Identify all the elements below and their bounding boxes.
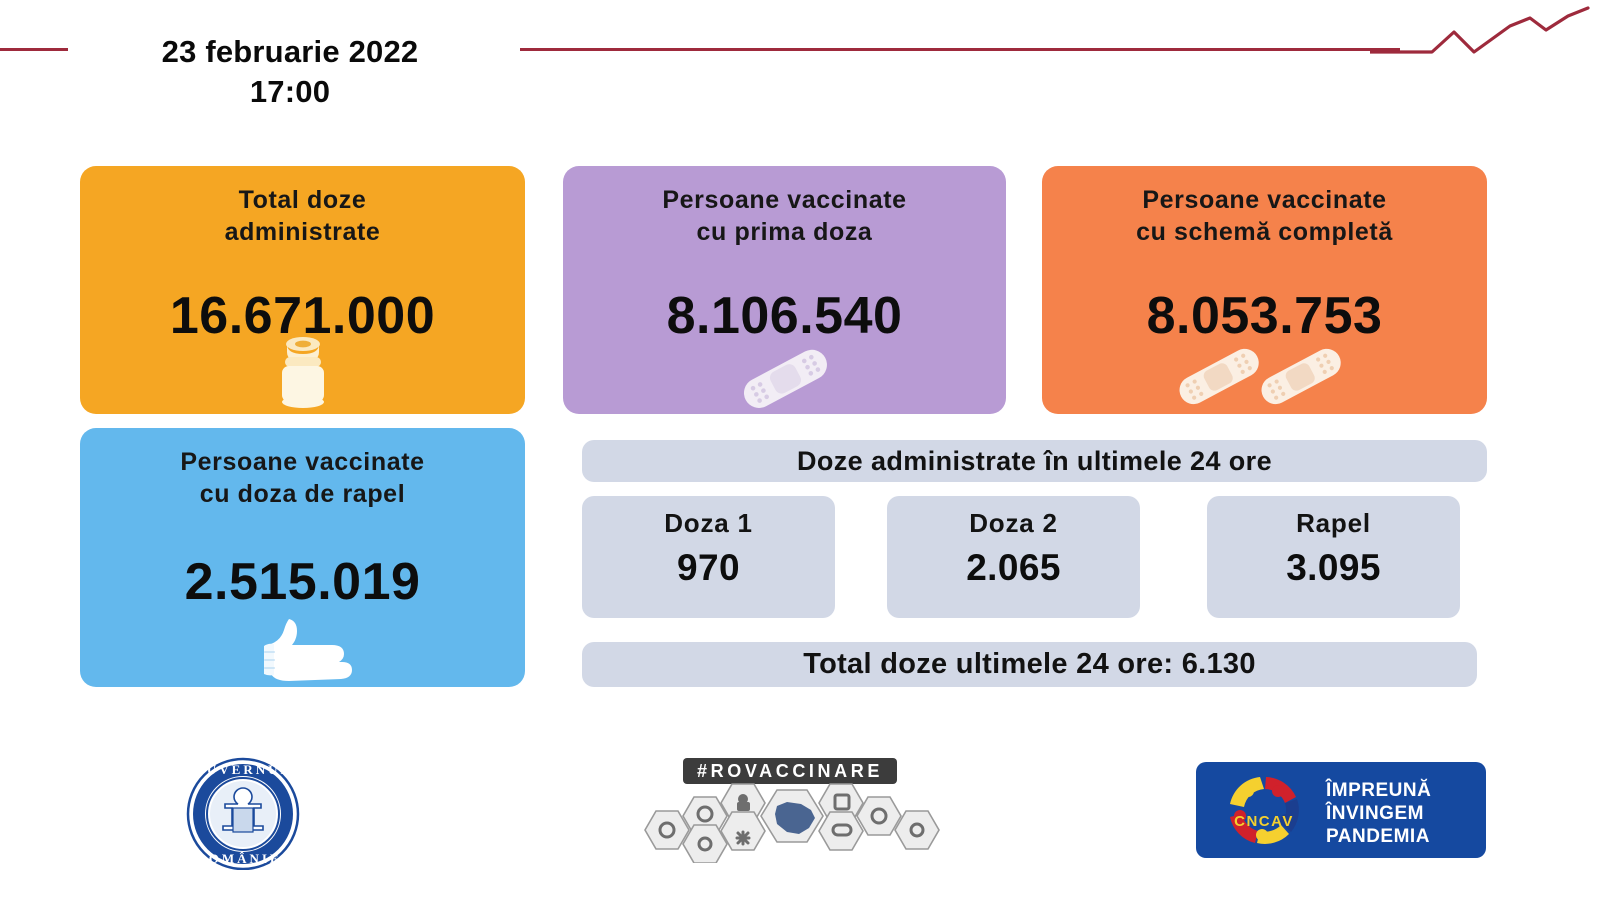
dose-box-doza-1-label: Doza 1 <box>582 508 835 539</box>
card-first-dose-value: 8.106.540 <box>577 286 992 346</box>
thumbs-up-icon <box>80 612 525 688</box>
header-rule-left <box>0 48 68 51</box>
svg-text:GUVERNUL: GUVERNUL <box>194 762 292 777</box>
dose-box-rapel-value: 3.095 <box>1207 547 1460 589</box>
cncav-logo-icon: CNCAV ÎMPREUNĂ ÎNVINGEM PANDEMIA <box>1196 762 1486 858</box>
svg-text:CNCAV: CNCAV <box>1234 813 1294 830</box>
card-first-dose-title: Persoane vaccinate cu prima doza <box>577 184 992 248</box>
dose-box-doza-1-value: 970 <box>582 547 835 589</box>
rovaccinare-hex-logo-icon: #ROVACCINARE <box>625 758 955 863</box>
cncav-line-2: ÎNVINGEM <box>1325 802 1424 824</box>
header: 23 februarie 2022 17:00 <box>0 0 1600 140</box>
cncav-line-3: PANDEMIA <box>1326 826 1430 847</box>
dose-box-doza-2-value: 2.065 <box>887 547 1140 589</box>
vaccine-vial-icon <box>80 332 525 412</box>
last-24h-header: Doze administrate în ultimele 24 ore <box>582 440 1487 482</box>
dose-box-rapel-label: Rapel <box>1207 508 1460 539</box>
last-24h-total: Total doze ultimele 24 ore: 6.130 <box>582 642 1477 687</box>
single-bandage-icon <box>563 338 1006 418</box>
double-bandage-icon <box>1042 334 1487 418</box>
svg-text:#ROVACCINARE: #ROVACCINARE <box>697 761 883 781</box>
header-datetime: 23 februarie 2022 17:00 <box>80 32 500 111</box>
dose-box-doza-1: Doza 1 970 <box>582 496 835 618</box>
card-total-doses-title: Total doze administrate <box>94 184 511 248</box>
dose-box-doza-2-label: Doza 2 <box>887 508 1140 539</box>
card-complete-scheme-title: Persoane vaccinate cu schemă completă <box>1056 184 1473 248</box>
cncav-line-1: ÎMPREUNĂ <box>1325 779 1431 801</box>
svg-text:ROMÂNIEI: ROMÂNIEI <box>196 851 289 866</box>
dose-box-doza-2: Doza 2 2.065 <box>887 496 1140 618</box>
header-rule-right <box>520 48 1400 51</box>
trend-up-line-icon <box>1370 6 1590 66</box>
header-date-text: 23 februarie 2022 <box>80 32 500 72</box>
header-time-text: 17:00 <box>80 72 500 112</box>
card-booster-dose-title: Persoane vaccinate cu doza de rapel <box>94 446 511 510</box>
dose-box-rapel: Rapel 3.095 <box>1207 496 1460 618</box>
card-booster-dose-value: 2.515.019 <box>94 552 511 612</box>
romanian-government-seal-icon: GUVERNUL ROMÂNIEI <box>148 752 338 870</box>
last-24h-panel: Doze administrate în ultimele 24 ore Doz… <box>582 440 1487 687</box>
